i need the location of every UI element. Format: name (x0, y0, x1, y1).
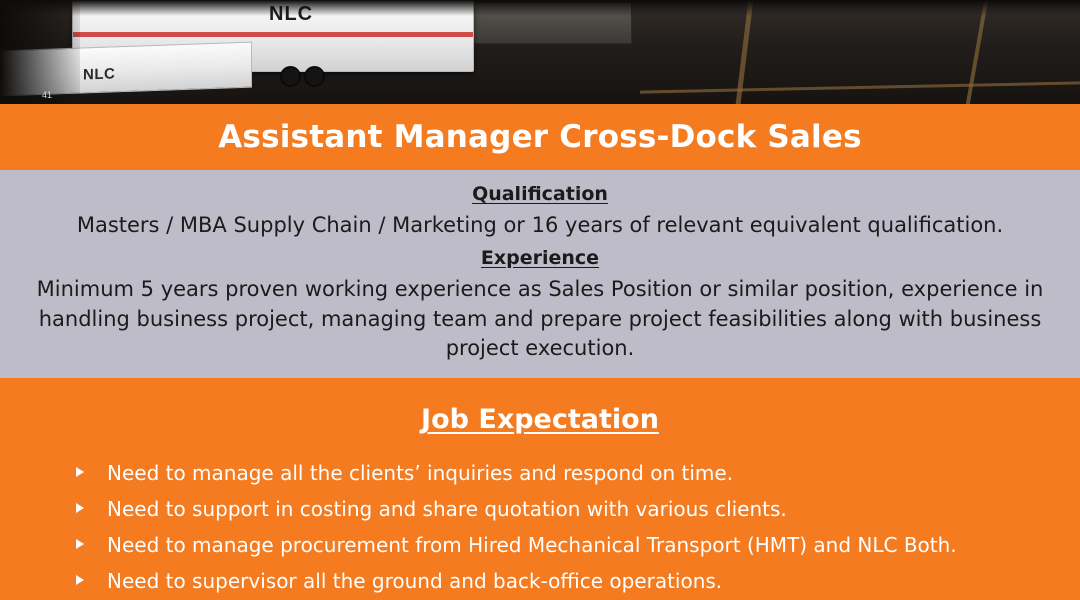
trailer-stripe (73, 32, 473, 37)
triangle-bullet-icon (76, 467, 84, 477)
photo-vignette-top (0, 0, 1080, 16)
list-item: Need to manage all the clients’ inquirie… (76, 459, 1080, 487)
wheel-icon (280, 66, 301, 87)
qualification-label: Qualification (0, 180, 1080, 209)
trailer-logo-text-secondary: NLC (83, 65, 115, 83)
wheel-icon (304, 66, 325, 87)
list-item-text: Need to manage all the clients’ inquirie… (107, 459, 733, 487)
job-expectation-list: Need to manage all the clients’ inquirie… (0, 459, 1080, 600)
experience-label: Experience (0, 244, 1080, 273)
qualification-text: Masters / MBA Supply Chain / Marketing o… (0, 211, 1080, 241)
page-title: Assistant Manager Cross-Dock Sales (218, 119, 862, 155)
job-title-bar: Assistant Manager Cross-Dock Sales (0, 104, 1080, 170)
photo-caption: 41 (42, 90, 52, 100)
job-expectation-heading: Job Expectation (0, 404, 1080, 435)
list-item: Need to supervisor all the ground and ba… (76, 567, 1080, 595)
triangle-bullet-icon (76, 503, 84, 513)
list-item-text: Need to support in costing and share quo… (107, 495, 787, 523)
list-item-text: Need to manage procurement from Hired Me… (107, 531, 957, 559)
header-photo-banner: NLC NLC 41 (0, 0, 1080, 104)
job-expectation-section: Job Expectation Need to manage all the c… (0, 378, 1080, 600)
experience-text: Minimum 5 years proven working experienc… (0, 275, 1080, 364)
photo-vignette-left (0, 0, 80, 104)
list-item: Need to manage procurement from Hired Me… (76, 531, 1080, 559)
list-item: Need to support in costing and share quo… (76, 495, 1080, 523)
triangle-bullet-icon (76, 575, 84, 585)
triangle-bullet-icon (76, 539, 84, 549)
list-item-text: Need to supervisor all the ground and ba… (107, 567, 722, 595)
qualification-section: Qualification Masters / MBA Supply Chain… (0, 170, 1080, 378)
job-poster-page: NLC NLC 41 Assistant Manager Cross-Dock … (0, 0, 1080, 600)
